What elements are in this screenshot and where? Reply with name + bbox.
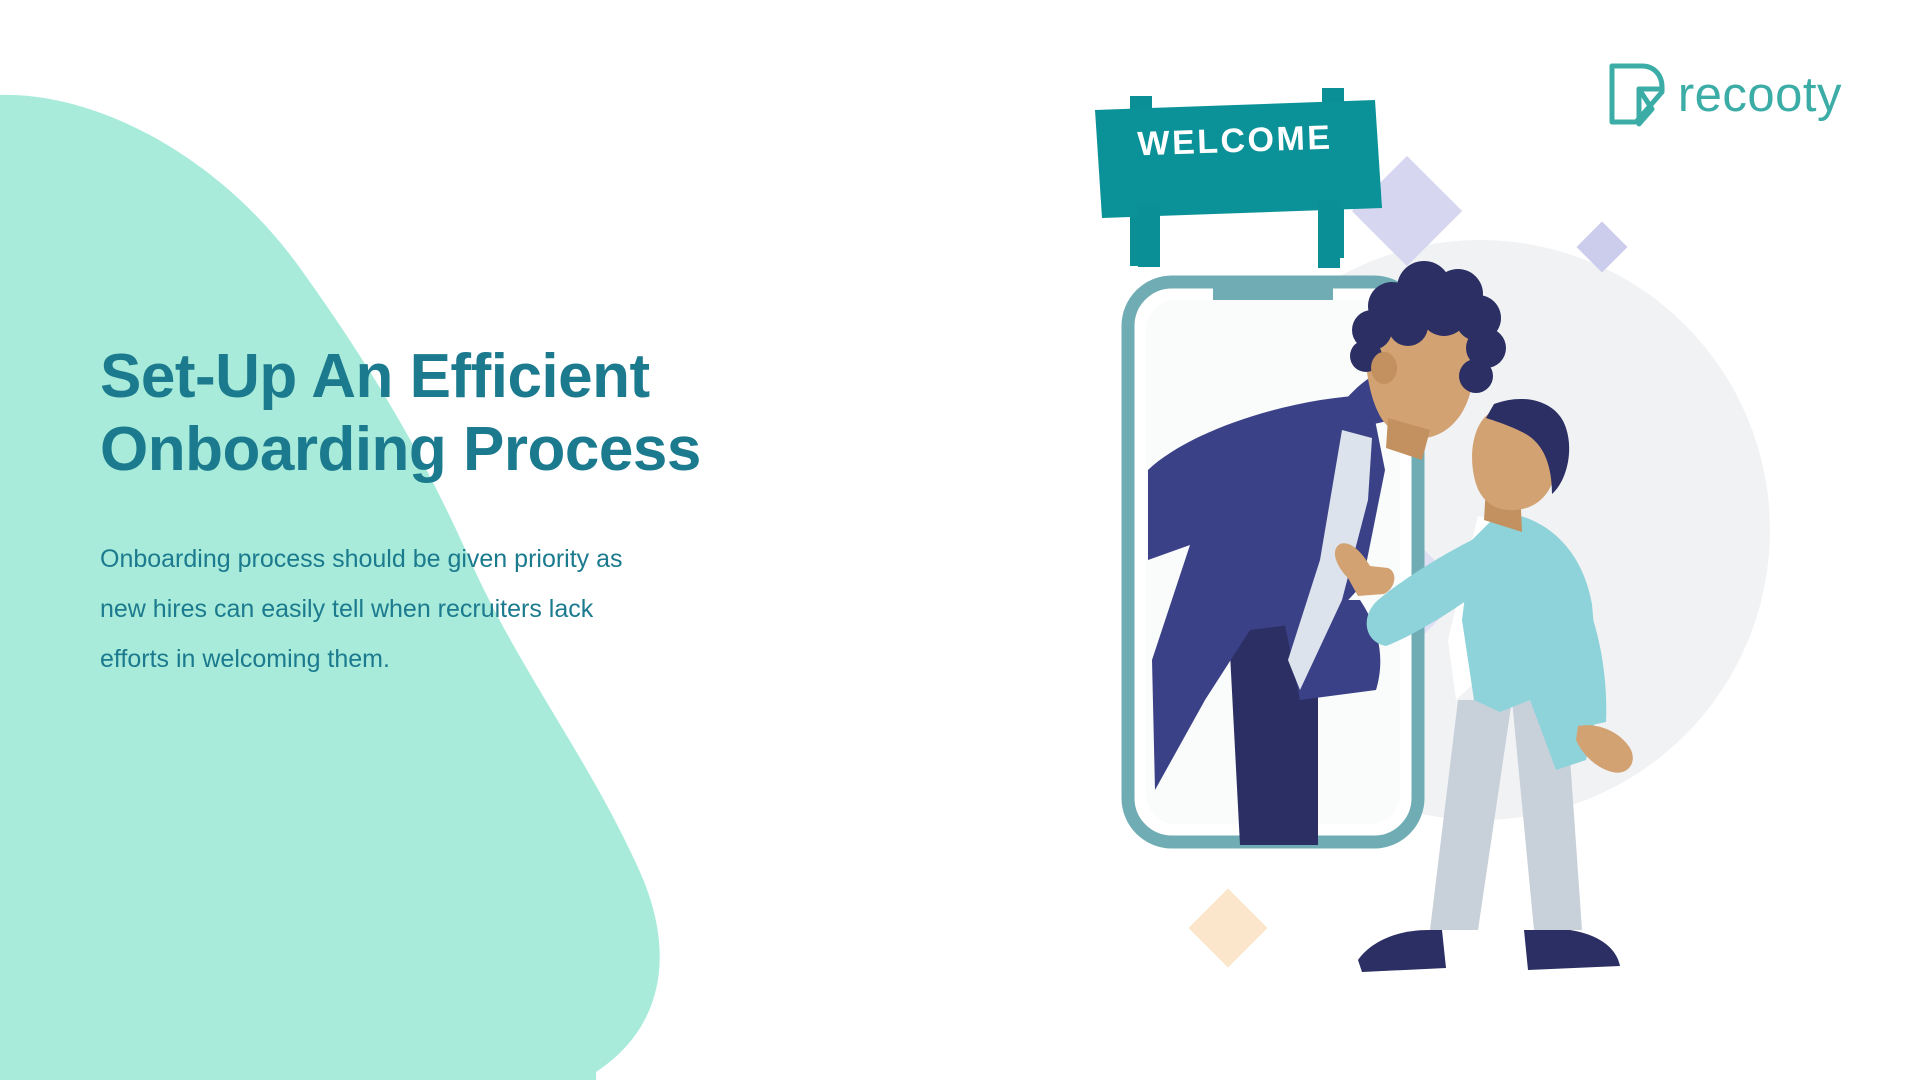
newhire-shoe-back [1358, 930, 1446, 972]
headline-line-2: Onboarding Process [100, 413, 960, 486]
pen-document-icon [1606, 62, 1668, 128]
newhire-shoe-front [1524, 930, 1620, 970]
newhire-leg-back [1430, 700, 1512, 930]
description-line-3: efforts in welcoming them. [100, 634, 890, 684]
hero-description: Onboarding process should be given prior… [100, 534, 890, 684]
welcome-sign-label: WELCOME [1084, 119, 1385, 163]
description-line-1: Onboarding process should be given prior… [100, 534, 890, 584]
welcome-sign: WELCOME [1085, 78, 1385, 278]
recruiter-ear [1371, 352, 1397, 384]
recooty-logo[interactable]: recooty [1606, 62, 1842, 128]
newhire-hand-right [1576, 725, 1633, 773]
recooty-wordmark: recooty [1678, 71, 1842, 120]
banner-canvas: WELCOME Set-Up An Efficient Onboarding P… [0, 0, 1920, 1080]
headline-line-1: Set-Up An Efficient [100, 342, 650, 411]
page-title: Set-Up An Efficient Onboarding Process [100, 340, 960, 486]
hero-text-block: Set-Up An Efficient Onboarding Process O… [100, 340, 960, 684]
description-line-2: new hires can easily tell when recruiter… [100, 584, 890, 634]
